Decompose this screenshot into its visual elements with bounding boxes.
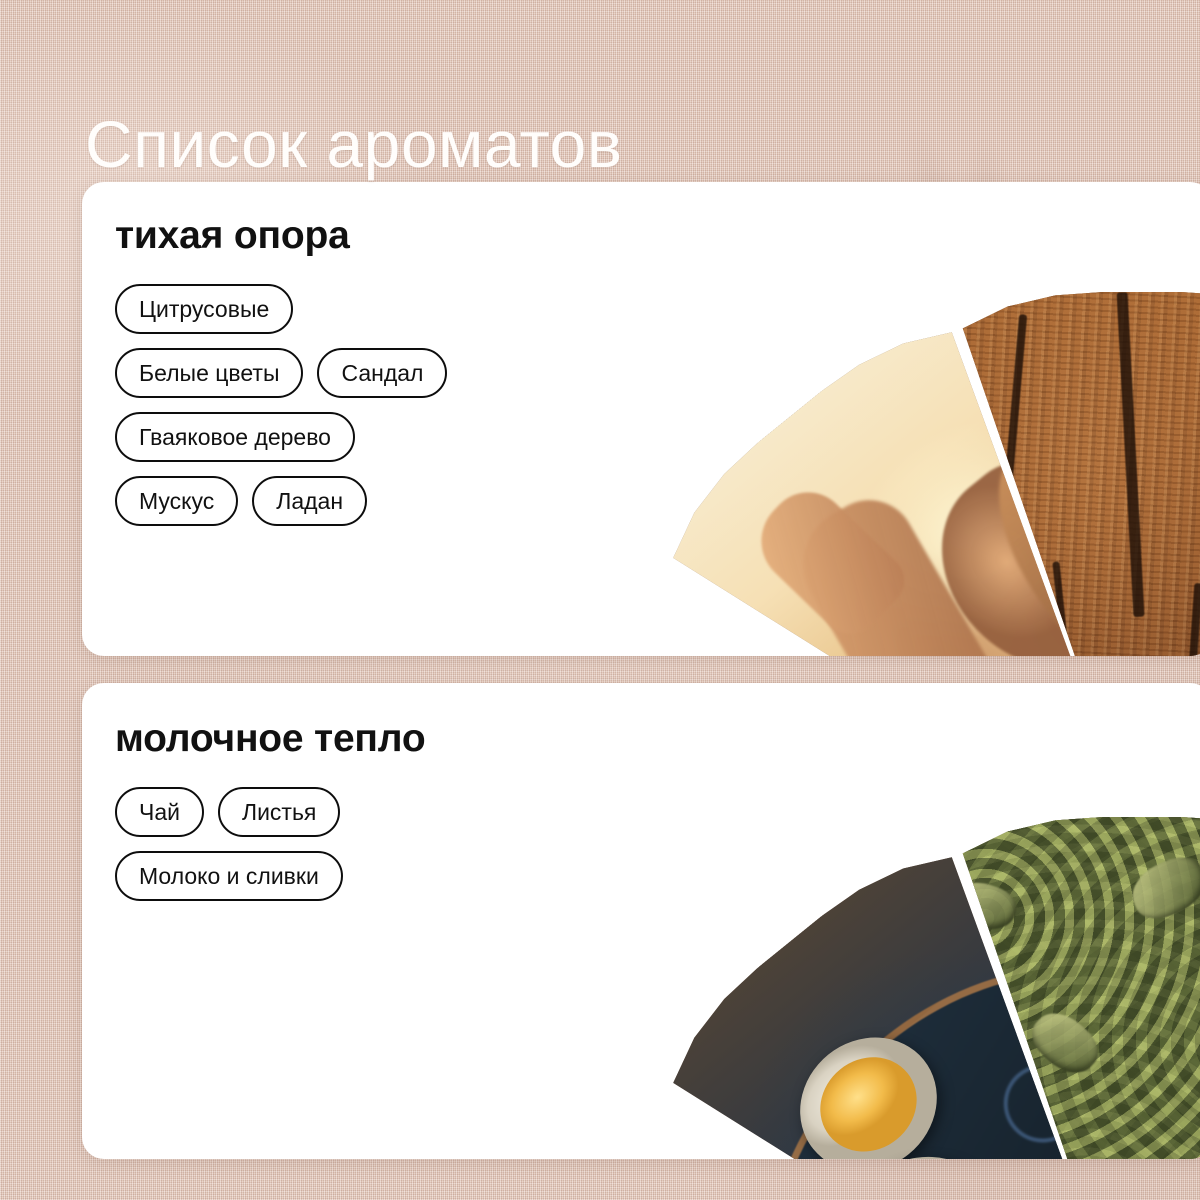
tag-row: Белые цветы Сандал: [115, 348, 447, 398]
tea-cups-photo: [572, 766, 1200, 1159]
tag-chip[interactable]: Листья: [218, 787, 340, 837]
page-title: Список ароматов: [85, 108, 622, 180]
tag-row: Молоко и сливки: [115, 851, 425, 901]
tag-chip[interactable]: Сандал: [317, 348, 447, 398]
tag-chip[interactable]: Гваяковое дерево: [115, 412, 355, 462]
tag-chip[interactable]: Ладан: [252, 476, 367, 526]
tag-chip[interactable]: Белые цветы: [115, 348, 303, 398]
tag-chip[interactable]: Цитрусовые: [115, 284, 293, 334]
tag-row: Чай Листья: [115, 787, 425, 837]
card-content: молочное тепло Чай Листья Молоко и сливк…: [115, 717, 425, 915]
image-fan: [402, 697, 1200, 1159]
card-heading: тихая опора: [115, 214, 447, 258]
scent-card-quiet-support[interactable]: тихая опора Цитрусовые Белые цветы Санда…: [82, 182, 1200, 656]
tag-chip[interactable]: Молоко и сливки: [115, 851, 343, 901]
tag-row: Гваяковое дерево: [115, 412, 447, 462]
milk-splash-photo: [924, 766, 1200, 1159]
oolong-tea-leaves-photo: [862, 817, 1200, 1159]
tag-list: Цитрусовые Белые цветы Сандал Гваяковое …: [115, 284, 447, 526]
scent-card-milk-warmth[interactable]: молочное тепло Чай Листья Молоко и сливк…: [82, 683, 1200, 1159]
tree-bark-photo: [862, 292, 1200, 656]
tag-row: Мускус Ладан: [115, 476, 447, 526]
card-content: тихая опора Цитрусовые Белые цветы Санда…: [115, 214, 447, 540]
incense-smoke-photo: [924, 241, 1200, 656]
tag-row: Цитрусовые: [115, 284, 447, 334]
tag-chip[interactable]: Мускус: [115, 476, 238, 526]
tag-list: Чай Листья Молоко и сливки: [115, 787, 425, 901]
card-heading: молочное тепло: [115, 717, 425, 761]
tag-chip[interactable]: Чай: [115, 787, 204, 837]
woman-at-sunset-photo: [572, 241, 1200, 656]
image-fan: [412, 192, 1200, 656]
